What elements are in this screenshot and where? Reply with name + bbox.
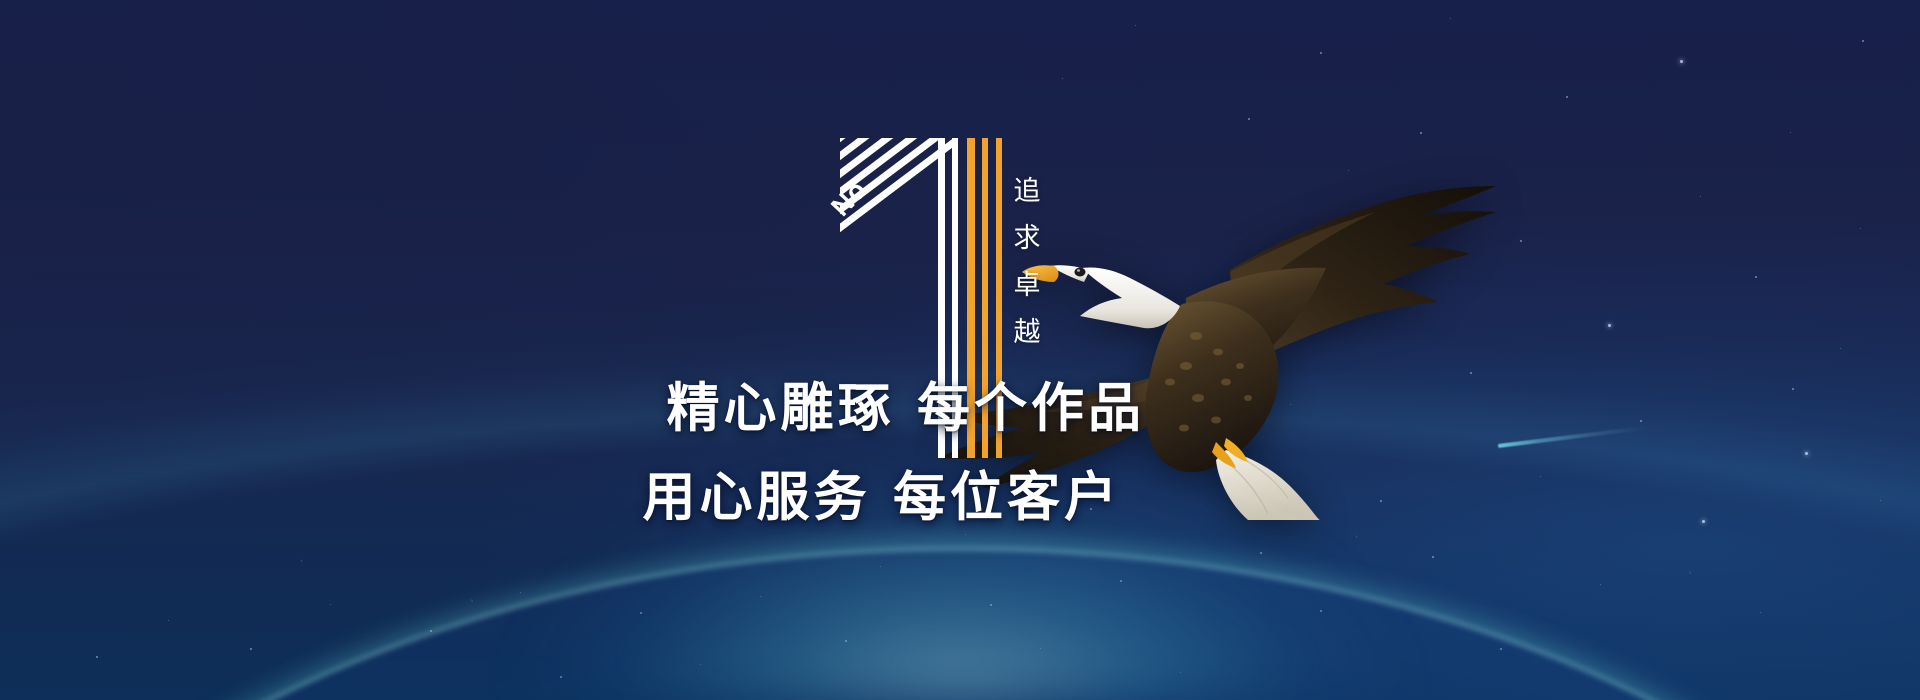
- headline-line-1: 精心雕琢 每个作品: [0, 378, 1145, 441]
- vertical-slogan-char-3: 卓: [1014, 272, 1041, 299]
- banner-hero: No. 追 求 卓 越 精心雕琢 每个作品 用心服务 每位客户: [0, 0, 1920, 700]
- headline-line-2: 用心服务 每位客户: [0, 467, 1145, 530]
- vertical-slogan-char-1: 追: [1014, 178, 1041, 205]
- vertical-slogan-char-2: 求: [1014, 225, 1041, 252]
- headline-block: 精心雕琢 每个作品 用心服务 每位客户: [0, 378, 1145, 529]
- vertical-slogan: 追 求 卓 越: [1004, 178, 1050, 346]
- vertical-slogan-char-4: 越: [1014, 319, 1041, 346]
